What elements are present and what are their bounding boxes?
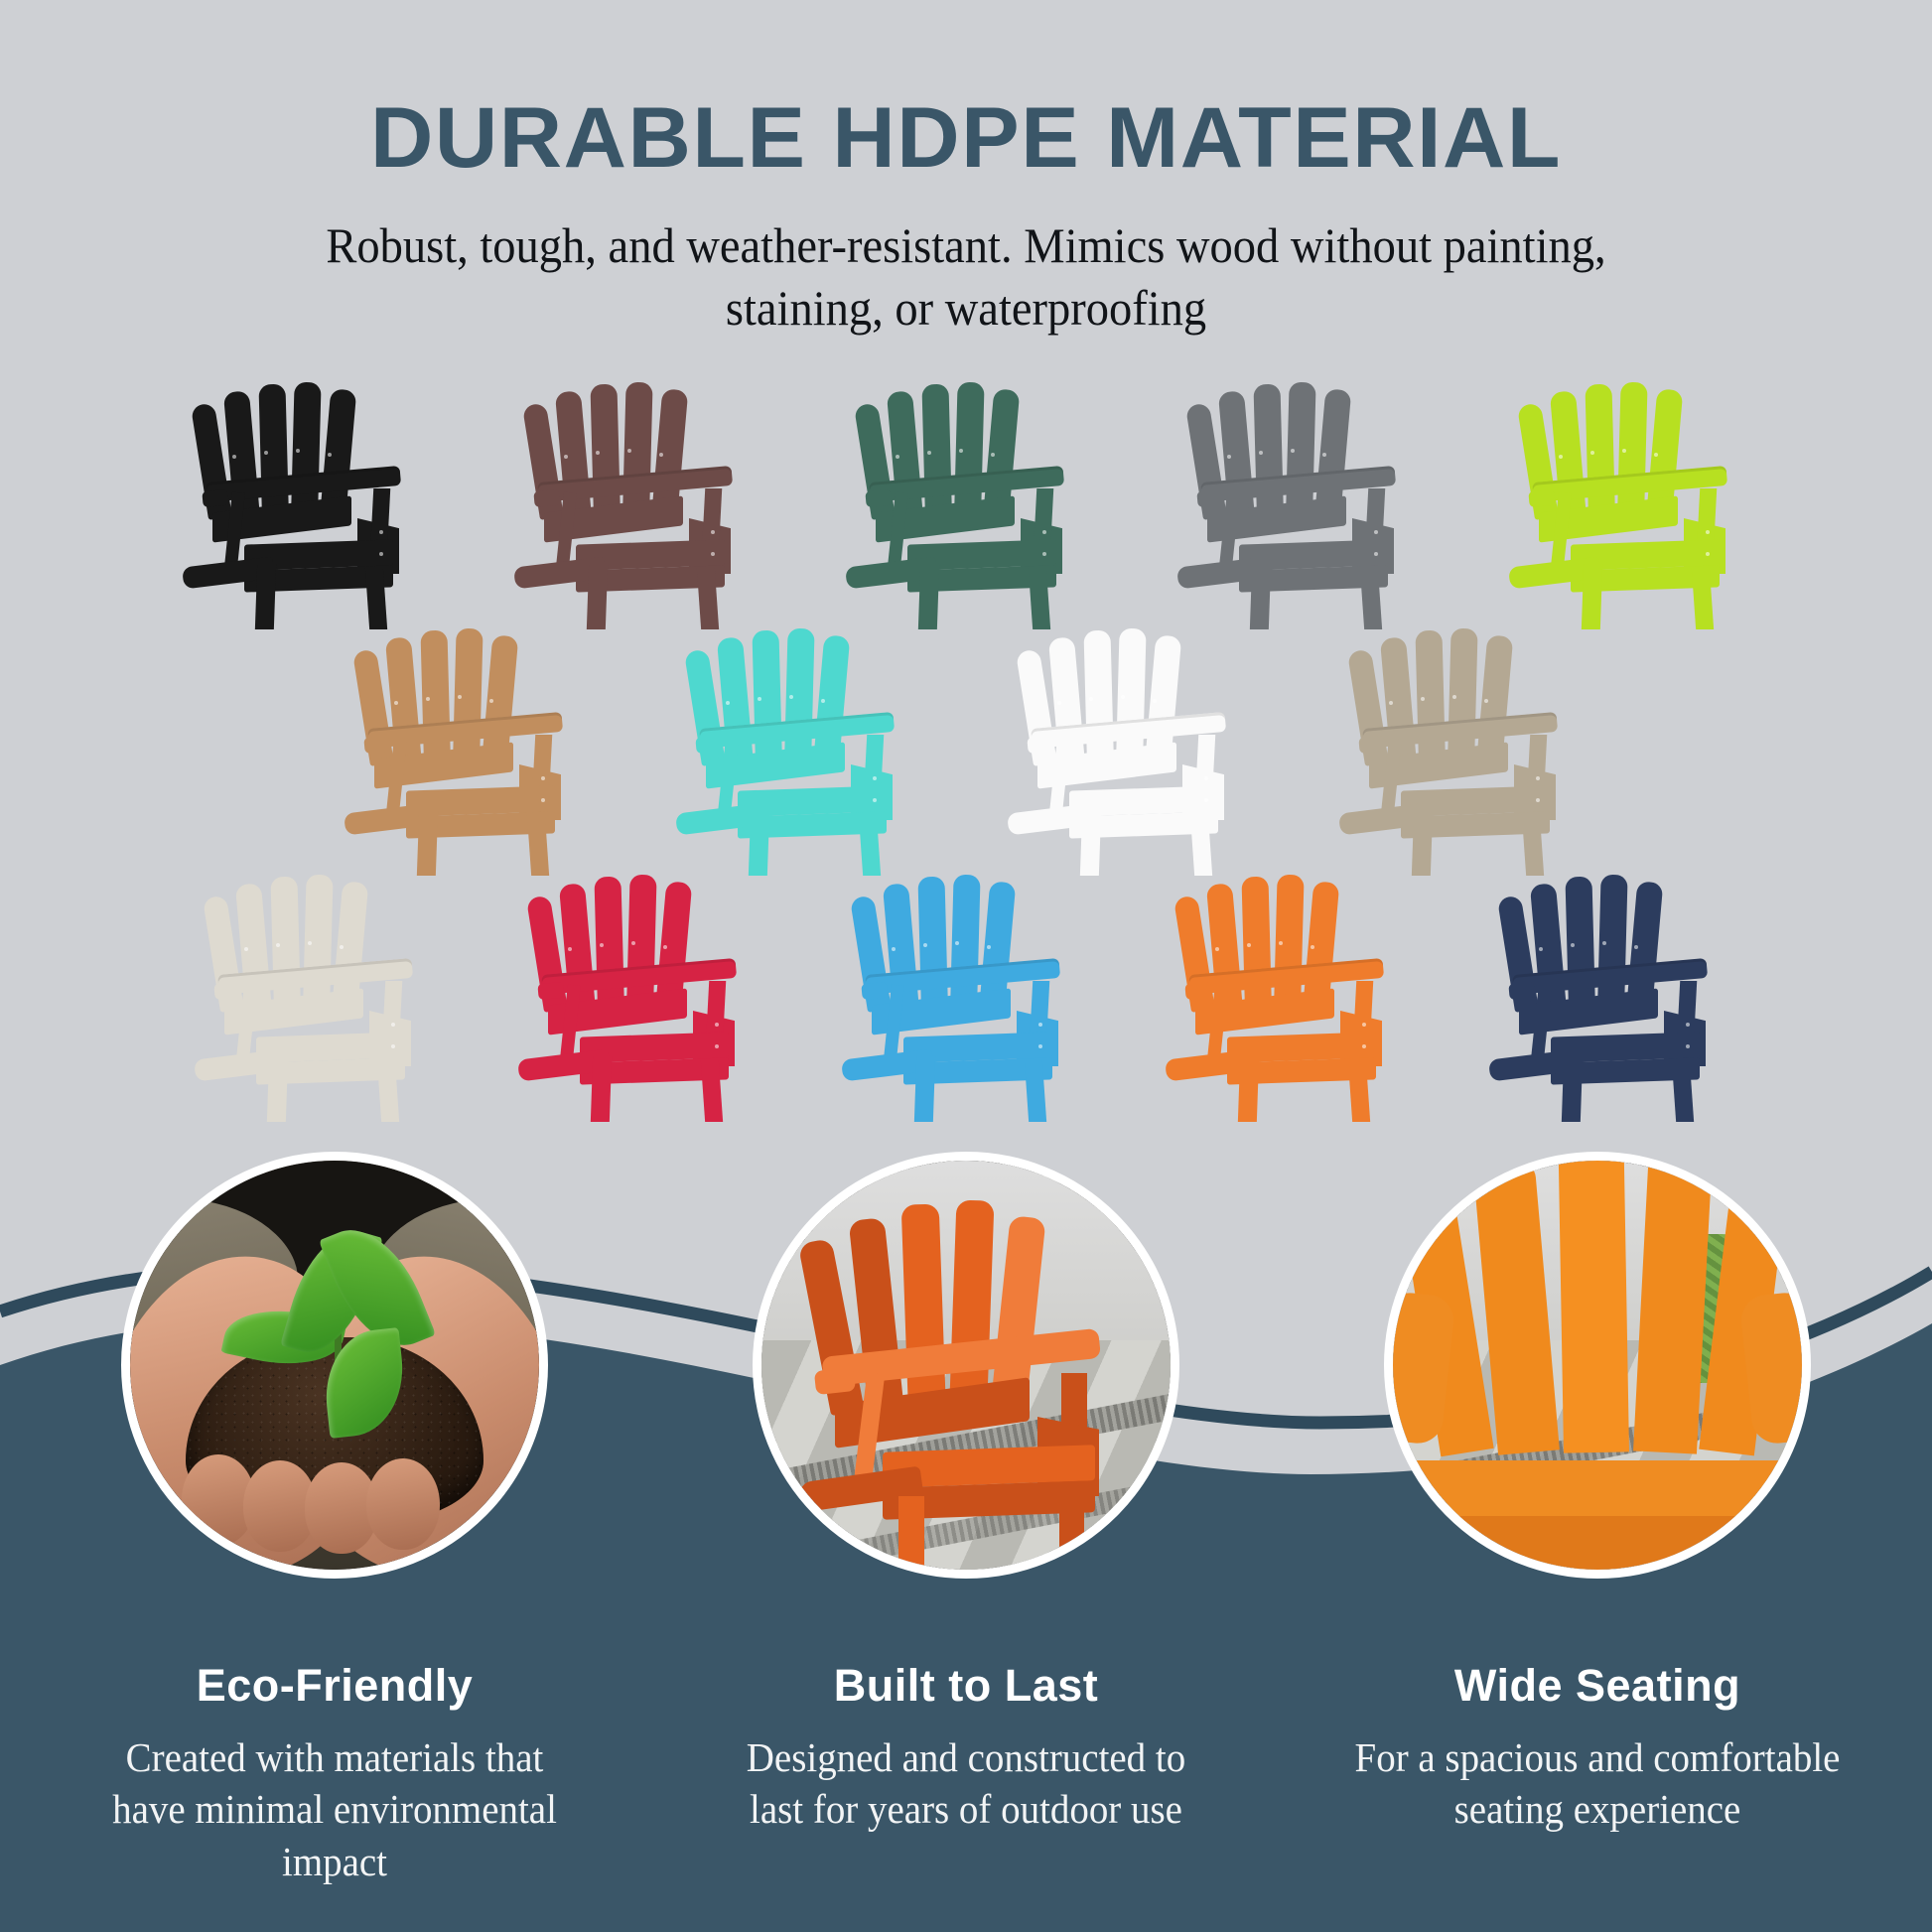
adirondack-chair-icon (998, 616, 1266, 876)
page-subtitle: Robust, tough, and weather-resistant. Mi… (320, 181, 1612, 340)
chair-swatch-black[interactable] (173, 369, 441, 629)
adirondack-chair-icon (836, 369, 1104, 629)
adirondack-chair-icon (504, 369, 772, 629)
chair-row-1 (0, 369, 1932, 629)
page-title: DURABLE HDPE MATERIAL (0, 0, 1932, 181)
caption-body: Designed and constructed to last for yea… (721, 1731, 1211, 1836)
chair-swatch-ivory[interactable] (185, 862, 453, 1122)
chair-swatch-red[interactable] (508, 862, 776, 1122)
caption-heading: Wide Seating (1339, 1660, 1856, 1712)
feature-built-to-last (708, 1152, 1224, 1579)
chair-swatch-orange[interactable] (1156, 862, 1424, 1122)
adirondack-chair-icon (1168, 369, 1436, 629)
seat-closeup-illustration (1393, 1161, 1802, 1570)
header: DURABLE HDPE MATERIAL Robust, tough, and… (0, 0, 1932, 340)
feature-wide-seating (1339, 1152, 1856, 1579)
caption-wide-seating: Wide Seating For a spacious and comforta… (1339, 1660, 1856, 1887)
feature-images (0, 1152, 1932, 1579)
caption-body: Created with materials that have minimal… (89, 1731, 580, 1887)
adirondack-chair-icon (173, 369, 441, 629)
chair-swatch-white[interactable] (998, 616, 1266, 876)
caption-eco-friendly: Eco-Friendly Created with materials that… (76, 1660, 593, 1887)
caption-built-to-last: Built to Last Designed and constructed t… (708, 1660, 1224, 1887)
orange-chair-illustration (787, 1184, 1155, 1562)
feature-captions: Eco-Friendly Created with materials that… (0, 1660, 1932, 1887)
eco-friendly-image (121, 1152, 548, 1579)
adirondack-chair-icon (1156, 862, 1424, 1122)
adirondack-chair-icon (666, 616, 934, 876)
chair-swatch-navy[interactable] (1479, 862, 1747, 1122)
caption-body: For a spacious and comfortable seating e… (1352, 1731, 1843, 1836)
chair-row-3 (0, 862, 1932, 1122)
adirondack-chair-icon (832, 862, 1100, 1122)
adirondack-chair-icon (185, 862, 453, 1122)
chair-swatch-lime-green[interactable] (1499, 369, 1767, 629)
built-to-last-image (753, 1152, 1179, 1579)
wide-seating-image (1384, 1152, 1811, 1579)
infographic-canvas: DURABLE HDPE MATERIAL Robust, tough, and… (0, 0, 1932, 1932)
adirondack-chair-icon (508, 862, 776, 1122)
adirondack-chair-icon (1499, 369, 1767, 629)
adirondack-chair-icon (1479, 862, 1747, 1122)
chair-swatch-gray[interactable] (1168, 369, 1436, 629)
adirondack-chair-icon (335, 616, 603, 876)
chair-swatch-turquoise[interactable] (666, 616, 934, 876)
chair-swatch-light-blue[interactable] (832, 862, 1100, 1122)
chair-swatch-taupe[interactable] (1329, 616, 1597, 876)
feature-eco-friendly (76, 1152, 593, 1579)
caption-heading: Eco-Friendly (76, 1660, 593, 1712)
caption-heading: Built to Last (708, 1660, 1224, 1712)
adirondack-chair-icon (1329, 616, 1597, 876)
chair-swatch-teak-tan[interactable] (335, 616, 603, 876)
chair-swatch-dark-green[interactable] (836, 369, 1104, 629)
chair-color-grid (0, 369, 1932, 1122)
chair-row-2 (0, 616, 1932, 876)
chair-swatch-brown[interactable] (504, 369, 772, 629)
